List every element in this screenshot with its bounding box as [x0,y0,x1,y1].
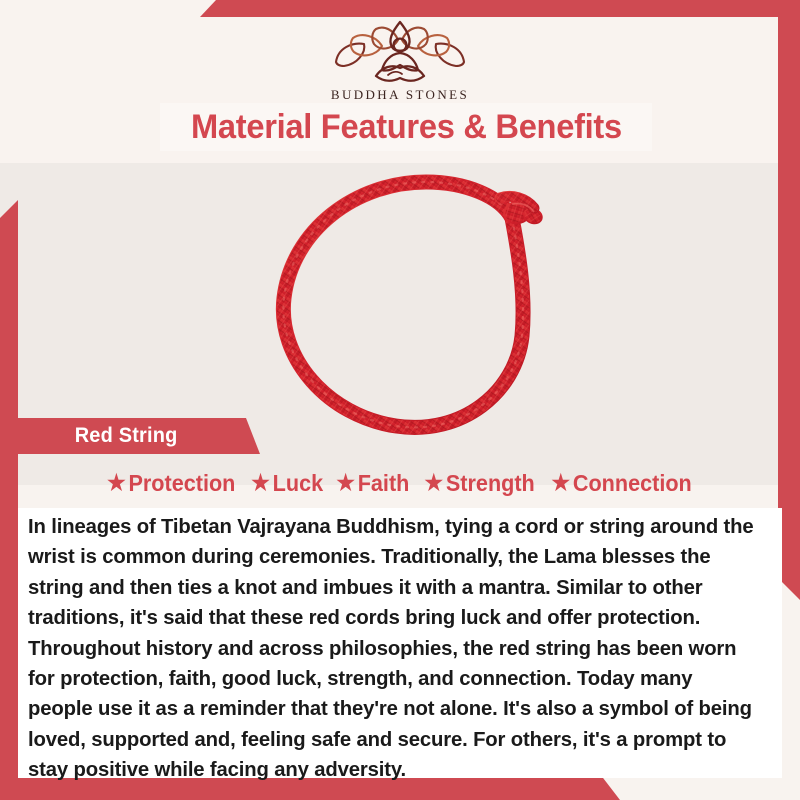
benefit-item: ★ Connection [552,470,692,497]
star-icon: ★ [425,472,444,494]
title-plate: Material Features & Benefits [160,103,652,151]
benefit-item: ★ Protection [108,470,236,497]
page-title: Material Features & Benefits [191,108,622,147]
star-icon: ★ [552,472,571,494]
description-paragraph: In lineages of Tibetan Vajrayana Buddhis… [28,512,761,786]
star-icon: ★ [108,472,127,494]
decorative-ribbon-left [0,200,18,800]
description-panel: In lineages of Tibetan Vajrayana Buddhis… [18,508,782,778]
star-icon: ★ [337,472,356,494]
infographic-page: BUDDHA STONES Material Features & Benefi… [0,0,800,800]
benefit-label: Protection [129,470,236,497]
product-label-banner: Red String [0,418,260,454]
product-label: Red String [75,424,178,448]
benefit-label: Strength [446,470,535,497]
benefit-item: ★ Strength [425,470,535,497]
benefit-label: Faith [358,470,410,497]
lotus-meditation-figure-icon [326,18,474,84]
benefit-label: Connection [573,470,692,497]
benefit-item: ★ Luck [251,470,323,497]
benefit-item: ★ Faith [337,470,410,497]
benefit-label: Luck [273,470,323,497]
brand-logo: BUDDHA STONES [0,18,800,103]
benefits-row: ★ Protection ★ Luck ★ Faith ★ Strength ★… [16,466,784,500]
product-image [250,168,570,440]
star-icon: ★ [251,472,270,494]
brand-name: BUDDHA STONES [331,87,469,103]
